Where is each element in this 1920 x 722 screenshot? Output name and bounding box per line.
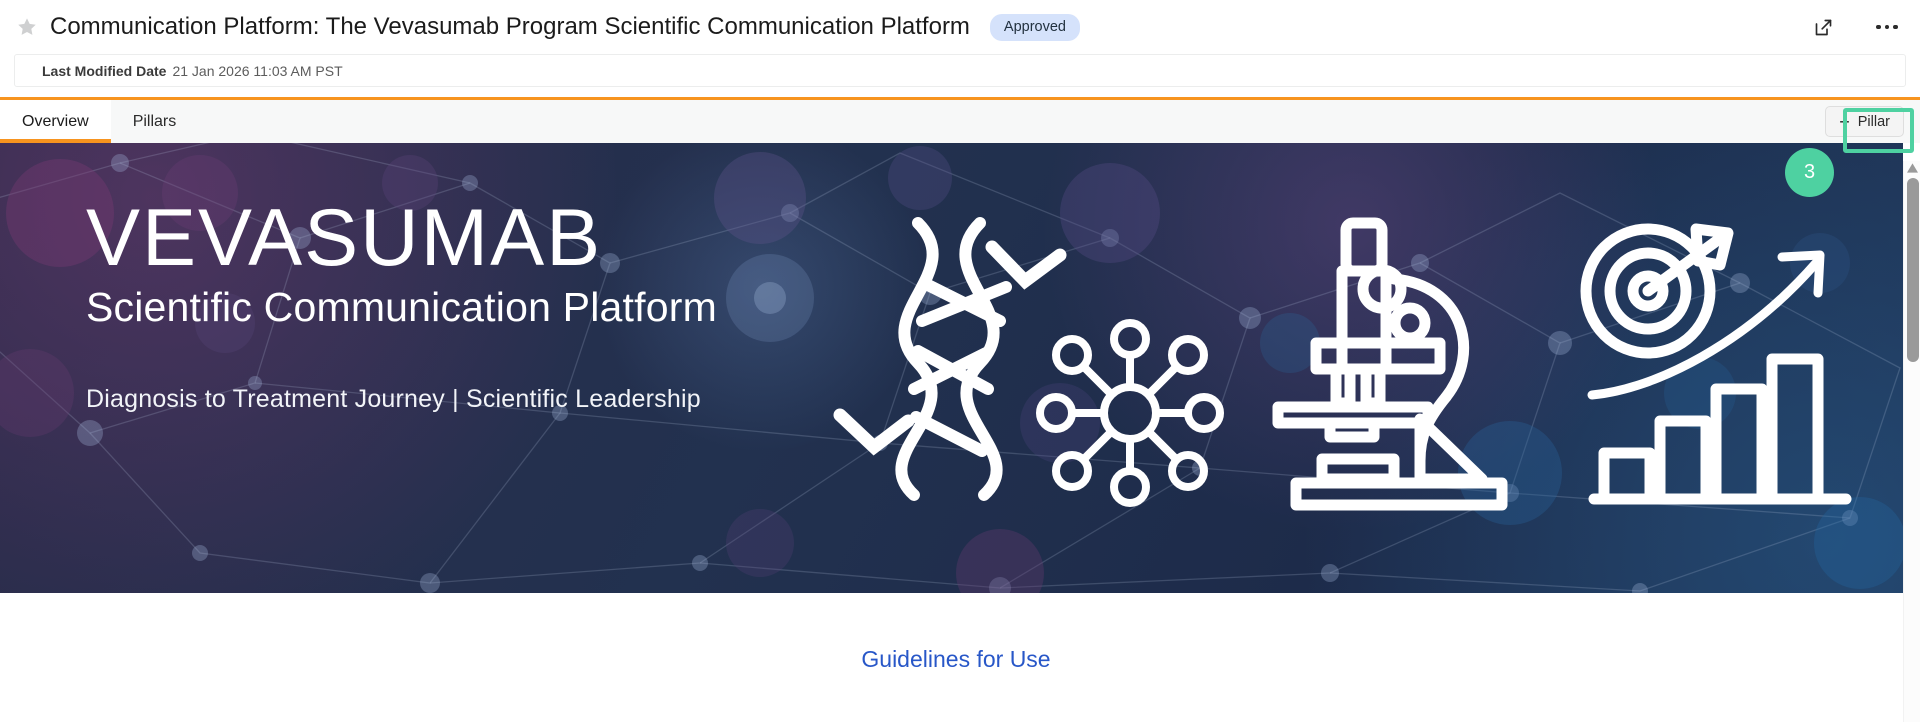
caret-up-icon[interactable] <box>1907 163 1918 173</box>
banner-text-block: VEVASUMAB Scientific Communication Platf… <box>86 199 717 414</box>
last-modified-label: Last Modified Date <box>42 63 166 79</box>
target-growth-chart-icon <box>1570 213 1870 513</box>
platform-banner: VEVASUMAB Scientific Communication Platf… <box>0 143 1903 593</box>
guidelines-for-use-link[interactable]: Guidelines for Use <box>861 646 1050 673</box>
guidelines-row: Guidelines for Use <box>0 593 1920 706</box>
status-badge: Approved <box>990 14 1080 41</box>
plus-icon: + <box>1839 113 1850 131</box>
tab-pillars-label: Pillars <box>133 113 177 131</box>
last-modified-card: Last Modified Date 21 Jan 2026 11:03 AM … <box>14 54 1906 87</box>
metadata-section: Last Modified Date 21 Jan 2026 11:03 AM … <box>0 54 1920 87</box>
vertical-scrollbar[interactable] <box>1903 161 1920 722</box>
scrollbar-thumb[interactable] <box>1907 178 1919 362</box>
page-title: Communication Platform: The Vevasumab Pr… <box>50 13 970 41</box>
banner-subtitle: Scientific Communication Platform <box>86 284 717 331</box>
tab-overview[interactable]: Overview <box>0 100 111 143</box>
annotation-step-badge: 3 <box>1785 148 1834 197</box>
banner-tagline: Diagnosis to Treatment Journey | Scienti… <box>86 385 717 414</box>
banner-icon-group <box>830 203 1860 533</box>
banner-brand-name: VEVASUMAB <box>86 199 717 278</box>
document-header: Communication Platform: The Vevasumab Pr… <box>0 0 1920 54</box>
tab-bar: Overview Pillars + Pillar <box>0 97 1920 143</box>
overview-content: VEVASUMAB Scientific Communication Platf… <box>0 143 1920 706</box>
tab-pillars[interactable]: Pillars <box>111 100 199 143</box>
tab-overview-label: Overview <box>22 113 89 131</box>
add-pillar-label: Pillar <box>1858 114 1890 130</box>
ellipsis-icon[interactable] <box>1872 12 1902 42</box>
external-link-icon[interactable] <box>1808 12 1838 42</box>
molecule-icon <box>1030 313 1230 513</box>
tab-bar-actions: + Pillar <box>1825 100 1920 143</box>
star-icon[interactable] <box>14 14 40 40</box>
add-pillar-button[interactable]: + Pillar <box>1825 106 1904 137</box>
microscope-icon <box>1270 211 1550 511</box>
last-modified-value: 21 Jan 2026 11:03 AM PST <box>172 63 342 79</box>
header-actions <box>1808 0 1902 54</box>
